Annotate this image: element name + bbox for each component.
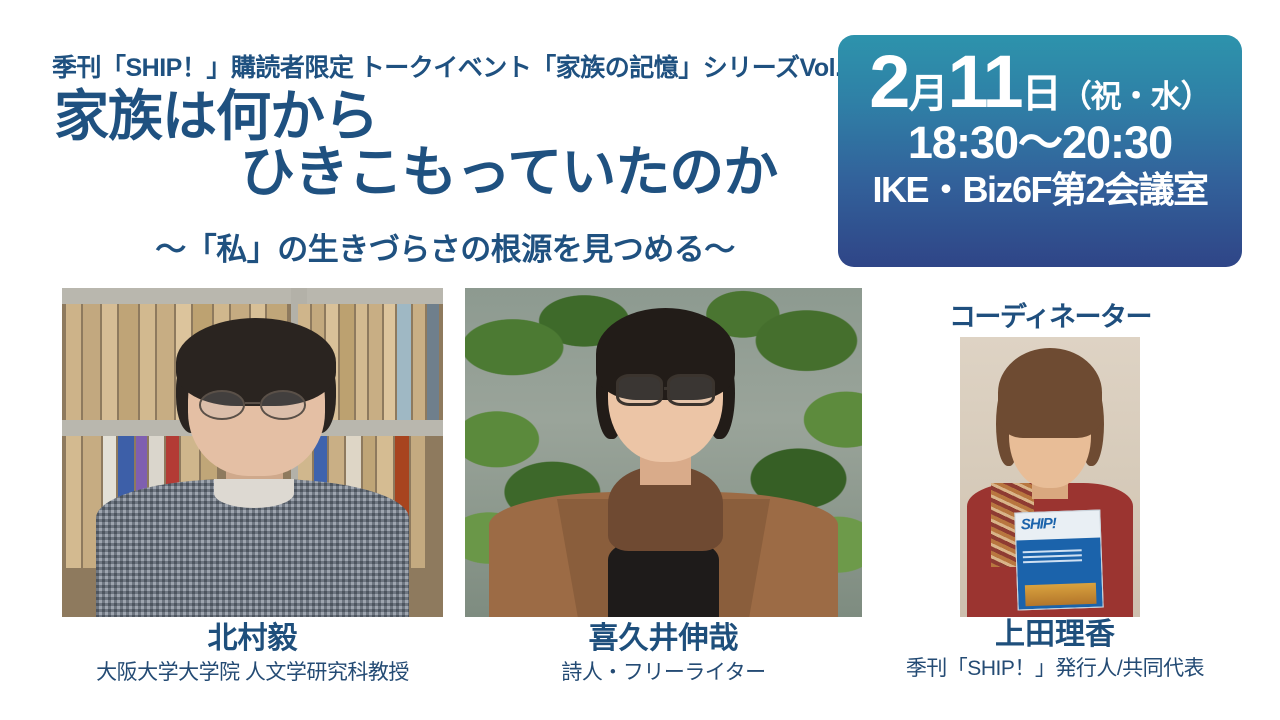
magazine-logo: SHIP! [1020,515,1056,533]
speaker-role: 大阪大学大学院 人文学研究科教授 [62,660,443,685]
hair [998,348,1102,438]
event-poster: 季刊「SHIP！」購読者限定 トークイベント「家族の記憶」シリーズVol.1 家… [0,0,1280,720]
glasses-bridge [245,402,260,404]
speaker-caption-2: 喜久井伸哉 詩人・フリーライター [465,622,862,685]
speaker-photo-3: SHIP! [960,337,1140,617]
photo-1-illustration [62,288,443,617]
speaker-caption-3: 上田理香 季刊「SHIP！」発行人/共同代表 [890,618,1220,681]
title-line-2: ひきこもっていたのか [50,144,840,200]
speaker-name: 上田理香 [890,618,1220,653]
month-unit: 月 [908,74,947,114]
title-line-1: 家族は何から [50,88,840,144]
photo-2-illustration [465,288,862,617]
photo-3-illustration: SHIP! [960,337,1140,617]
event-series-kicker: 季刊「SHIP！」購読者限定 トークイベント「家族の記憶」シリーズVol.1 [52,48,855,84]
day-unit: 日 [1022,74,1061,114]
glasses-lens-right [260,390,306,420]
speaker-name: 北村毅 [62,622,443,657]
magazine-text-lines [1022,549,1082,566]
month-number: 2 [869,47,908,117]
speaker-role: 詩人・フリーライター [465,660,862,685]
page-subtitle: 〜「私」の生きづらさの根源を見つめる〜 [50,224,840,269]
glasses-lens-left [199,390,245,420]
coordinator-label: コーディネーター [940,295,1160,334]
event-time: 18:30〜20:30 [838,119,1242,168]
glasses-bridge [664,387,670,390]
page-title: 家族は何から ひきこもっていたのか [50,88,840,200]
glasses-lens-left [616,374,664,407]
date-line: 2 月 11 日 （祝・水） [838,47,1242,117]
glasses-lens-right [667,374,715,407]
weekday: （祝・水） [1061,81,1211,112]
speaker-caption-1: 北村毅 大阪大学大学院 人文学研究科教授 [62,622,443,685]
ship-magazine: SHIP! [1014,509,1104,610]
hair [176,318,336,407]
speaker-photo-2 [465,288,862,617]
speaker-role: 季刊「SHIP！」発行人/共同代表 [890,656,1220,681]
day-number: 11 [947,47,1021,117]
speaker-photo-1 [62,288,443,617]
speaker-name: 喜久井伸哉 [465,622,862,657]
event-venue: IKE・Biz6F第2会議室 [838,170,1242,210]
shelf-board [62,288,443,304]
magazine-cover-photo [1024,582,1096,606]
date-badge: 2 月 11 日 （祝・水） 18:30〜20:30 IKE・Biz6F第2会議… [838,35,1242,267]
